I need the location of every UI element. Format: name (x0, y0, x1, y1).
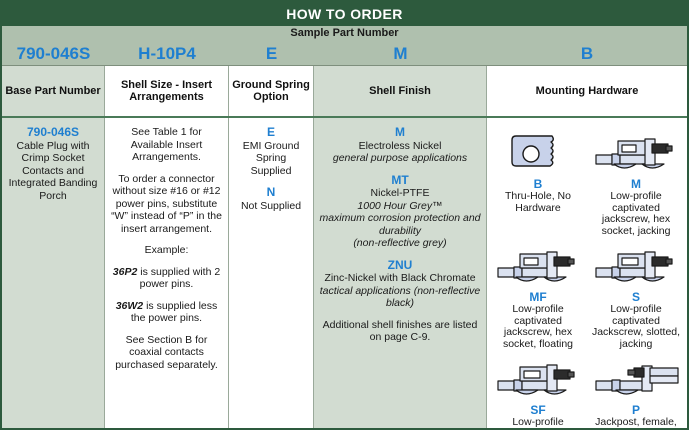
jackscrew-slotted-icon (590, 241, 682, 293)
hardware-desc-m: Low-profile captivated jackscrew, hex so… (587, 191, 685, 237)
column-header-ground-spring: Ground Spring Option (229, 66, 314, 116)
sample-part-number-caption: Sample Part Number (2, 26, 687, 41)
hardware-option-b: B Thru-Hole, No Hardware (489, 128, 587, 237)
shell-finish-name-znu: Zinc-Nickel with Black Chromate (324, 272, 475, 284)
shell-size-line2: To order a connector without size #16 or… (110, 173, 223, 236)
table-body-row: 790-046S Cable Plug with Crimp Socket Co… (2, 118, 687, 430)
hardware-option-p: P Jackpost, female, with nut and split w… (587, 354, 685, 430)
example-1-text: is supplied with 2 power pins. (137, 266, 220, 291)
column-header-row: Base Part Number Shell Size - Insert Arr… (2, 66, 687, 118)
sample-code-shell-finish: M (314, 45, 487, 62)
hardware-desc-s: Low-profile captivated Jackscrew, slotte… (587, 304, 685, 350)
cell-mounting-hardware: B Thru-Hole, No Hardware (487, 118, 687, 430)
hardware-desc-sf: Low-profile captivated Jackscrew, slotte… (489, 417, 587, 430)
base-part-code: 790-046S (27, 125, 79, 139)
jackscrew-slotted-floating-icon (492, 354, 584, 406)
hardware-option-mf: MF Low-profile captivated jackscrew, hex… (489, 241, 587, 350)
cell-base-part-number: 790-046S Cable Plug with Crimp Socket Co… (2, 118, 105, 430)
sample-part-number-band: Sample Part Number 790-046S H-10P4 E M B (2, 26, 687, 66)
column-header-shell-size: Shell Size - Insert Arrangements (105, 66, 229, 116)
jackpost-icon (590, 354, 682, 406)
jackscrew-hex-icon (590, 128, 682, 180)
shell-size-line3: See Section B for coaxial contacts purch… (110, 334, 223, 372)
shell-finish-code-m: M (395, 125, 405, 139)
ground-spring-code-n: N (267, 185, 276, 199)
example-1-code: 36P2 (113, 266, 138, 278)
flange-thru-hole-icon (508, 128, 568, 180)
table-title: HOW TO ORDER (2, 2, 687, 26)
shell-finish-code-znu: ZNU (388, 258, 413, 272)
shell-finish-note-mt-3: (non-reflective grey) (353, 237, 446, 249)
mounting-hardware-grid: B Thru-Hole, No Hardware (489, 126, 685, 430)
shell-size-example-1: 36P2 is supplied with 2 power pins. (110, 266, 223, 291)
cell-shell-size: See Table 1 for Available Insert Arrange… (105, 118, 229, 430)
jackscrew-hex-floating-icon (492, 241, 584, 293)
shell-finish-note-mt-2: maximum corrosion protection and durabil… (319, 212, 480, 237)
base-part-description: Cable Plug with Crimp Socket Contacts an… (9, 140, 98, 202)
shell-size-line1: See Table 1 for Available Insert Arrange… (110, 126, 223, 164)
ground-spring-desc-e: EMI Ground Spring Supplied (243, 140, 300, 177)
sample-code-mounting-hardware: B (487, 45, 687, 62)
shell-finish-note-mt: 1000 Hour Grey™ (357, 200, 442, 212)
cell-shell-finish: M Electroless Nickel general purpose app… (314, 118, 487, 430)
example-2-text: is supplied less the power pins. (131, 300, 217, 325)
column-header-shell-finish: Shell Finish (314, 66, 487, 116)
hardware-option-m: M Low-profile captivated jackscrew, hex … (587, 128, 685, 237)
hardware-desc-mf: Low-profile captivated jackscrew, hex so… (489, 304, 587, 350)
hardware-desc-p: Jackpost, female, with nut and split was… (587, 417, 685, 430)
shell-finish-note-znu: tactical applications (non-reflective bl… (320, 285, 481, 310)
shell-size-example-2: 36W2 is supplied less the power pins. (110, 300, 223, 325)
shell-finish-footnote: Additional shell finishes are listed on … (319, 319, 481, 344)
column-header-mounting-hardware: Mounting Hardware (487, 66, 687, 116)
shell-finish-name-m: Electroless Nickel (359, 140, 442, 152)
shell-finish-note-m: general purpose applications (333, 152, 467, 164)
cell-ground-spring: E EMI Ground Spring Supplied N Not Suppl… (229, 118, 314, 430)
ground-spring-code-e: E (267, 125, 275, 139)
shell-finish-code-mt: MT (391, 173, 408, 187)
example-2-code: 36W2 (116, 300, 143, 312)
column-header-base-part: Base Part Number (2, 66, 105, 116)
shell-size-example-label: Example: (110, 244, 223, 257)
sample-part-number-codes: 790-046S H-10P4 E M B (2, 41, 687, 65)
sample-code-ground-spring: E (229, 45, 314, 62)
ground-spring-desc-n: Not Supplied (241, 200, 301, 212)
sample-code-base-part: 790-046S (2, 45, 105, 62)
shell-finish-name-mt: Nickel-PTFE (371, 187, 430, 199)
hardware-option-sf: SF Low-profile captivated Jackscrew, slo… (489, 354, 587, 430)
how-to-order-table: HOW TO ORDER Sample Part Number 790-046S… (0, 0, 689, 430)
sample-code-shell-size: H-10P4 (105, 45, 229, 62)
hardware-desc-b: Thru-Hole, No Hardware (489, 191, 587, 214)
hardware-option-s: S Low-profile captivated Jackscrew, slot… (587, 241, 685, 350)
